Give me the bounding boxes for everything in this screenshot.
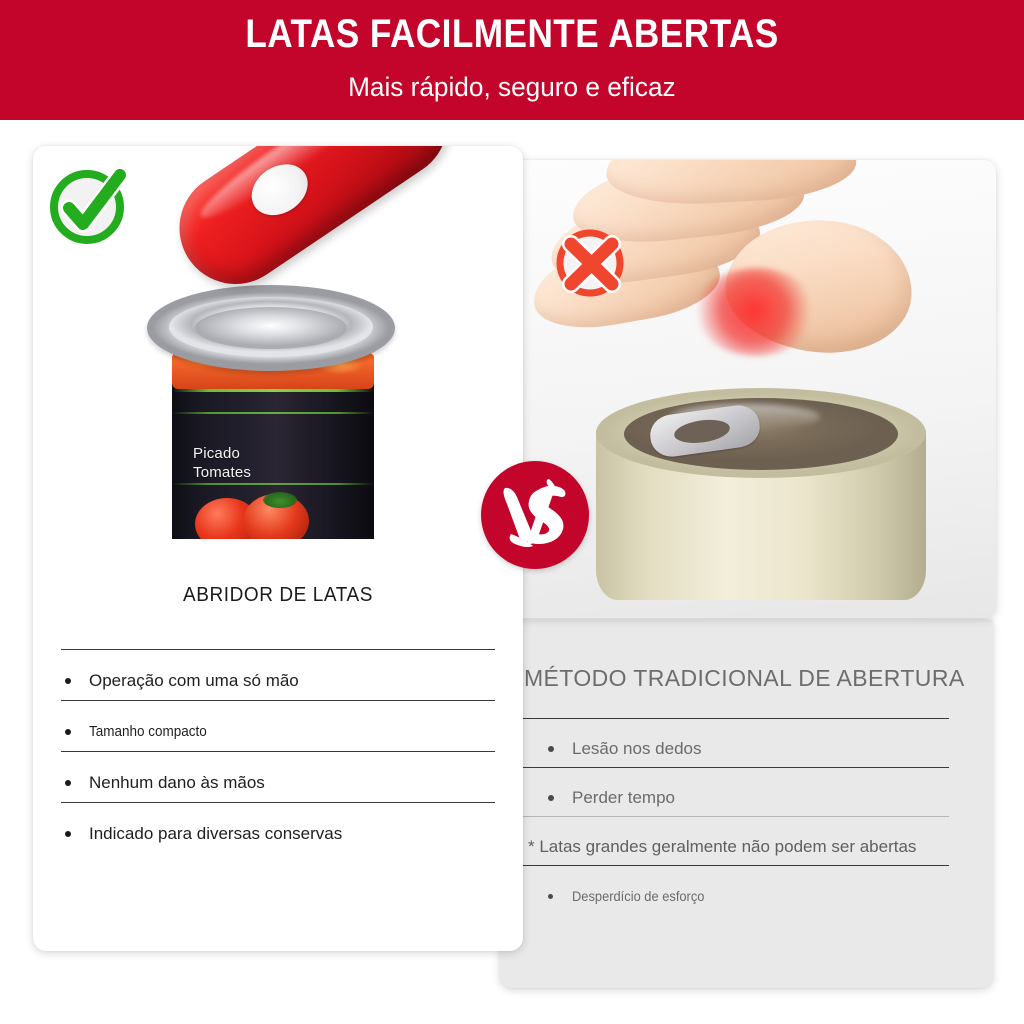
list-item: Nenhum dano às mãos	[61, 751, 495, 802]
bullet-icon	[65, 780, 71, 786]
list-item-label: Perder tempo	[572, 788, 949, 808]
bullet-icon	[65, 831, 71, 837]
red-x-icon	[552, 222, 632, 302]
list-item-label: Operação com uma só mão	[89, 671, 495, 691]
injury-highlight-icon	[696, 268, 816, 356]
list-item-label: Lesão nos dedos	[572, 739, 949, 759]
bullet-icon	[65, 729, 71, 735]
list-item-label: Nenhum dano às mãos	[89, 773, 495, 793]
list-item: Desperdício de esforço	[522, 865, 949, 914]
header-banner: LATAS FACILMENTE ABERTAS Mais rápido, se…	[0, 0, 1024, 120]
bullet-icon	[548, 894, 553, 899]
opener-handle	[158, 146, 469, 306]
green-check-icon	[46, 162, 134, 250]
hand-illustration	[510, 160, 950, 456]
vs-brush-icon	[481, 461, 589, 569]
list-item-label: * Latas grandes geralmente não podem ser…	[528, 837, 949, 857]
vs-badge	[481, 461, 589, 569]
list-item: Perder tempo	[522, 767, 949, 816]
list-item-label: Indicado para diversas conservas	[89, 824, 495, 844]
page-title: LATAS FACILMENTE ABERTAS	[245, 14, 778, 54]
can-stripe	[172, 412, 374, 414]
right-card-heading: MÉTODO TRADICIONAL DE ABERTURA	[524, 665, 971, 692]
left-comparison-card: Picado Tomates ABRIDOR DE LATAS	[33, 146, 523, 951]
list-item: Operação com uma só mão	[61, 649, 495, 700]
tomato-illustration	[191, 492, 315, 539]
can-label-line1: Picado	[193, 444, 373, 463]
can-stripe	[172, 483, 374, 485]
list-item: Lesão nos dedos	[522, 718, 949, 767]
bullet-icon	[548, 746, 554, 752]
can-stripe	[172, 389, 374, 392]
can-label-line2: Tomates	[193, 463, 373, 482]
right-drawback-list: Lesão nos dedos Perder tempo * Latas gra…	[522, 718, 971, 914]
list-item-label: Desperdício de esforço	[572, 886, 919, 906]
list-item: Indicado para diversas conservas	[61, 802, 495, 853]
can-label: Picado Tomates	[193, 444, 373, 482]
left-card-heading: ABRIDOR DE LATAS	[72, 584, 484, 607]
right-comparison-card: MÉTODO TRADICIONAL DE ABERTURA Lesão nos…	[500, 620, 993, 988]
list-item: Tamanho compacto	[61, 700, 495, 751]
list-item-label: Tamanho compacto	[89, 722, 454, 742]
leaf-icon	[263, 492, 297, 508]
bullet-icon	[548, 795, 554, 801]
bullet-icon	[65, 678, 71, 684]
left-feature-list: Operação com uma só mão Tamanho compacto…	[61, 649, 495, 853]
left-card-content: ABRIDOR DE LATAS Operação com uma só mão…	[33, 539, 523, 951]
list-item-note: * Latas grandes geralmente não podem ser…	[522, 816, 949, 865]
page-subtitle: Mais rápido, seguro e eficaz	[348, 74, 676, 101]
